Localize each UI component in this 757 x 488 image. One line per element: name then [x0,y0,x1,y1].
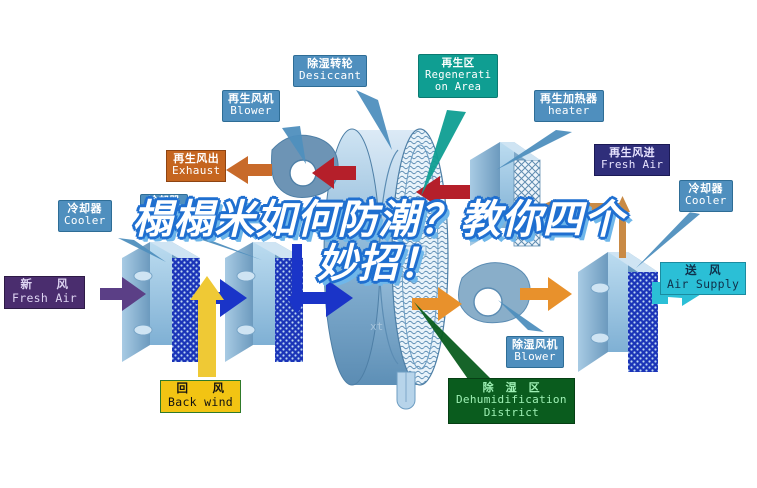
callout-regeneration-heater-en: heater [540,105,598,117]
callout-back-wind-cn: 回 风 [168,383,233,396]
callout-cooler-left-b-cn: 冷却器 [145,196,183,207]
callout-regeneration-area: 再生区 Regenerati on Area [418,54,498,98]
diagram-canvas: xt [0,0,757,488]
callout-fresh-air-in-cn: 新 风 [12,279,77,292]
callout-regeneration-area-en-1: Regenerati [425,70,491,82]
callout-air-supply-en: Air Supply [667,278,739,291]
callout-exhaust-en: Exhaust [172,165,220,177]
callout-air-supply-cn: 送 风 [667,265,739,278]
callout-regeneration-area-cn: 再生区 [425,58,491,70]
svg-text:xt: xt [370,320,383,333]
callout-regeneration-blower-en: Blower [228,105,274,117]
callout-dehumidification-blower: 除湿风机 Blower [506,336,564,368]
callout-dehumidification-district: 除 湿 区 Dehumidification District [448,378,575,424]
callout-regeneration-blower: 再生风机 Blower [222,90,280,122]
callout-cooler-right-en: Cooler [685,195,727,207]
callout-back-wind: 回 风 Back wind [160,380,241,413]
drain-pan [397,372,415,409]
callout-dehumidification-blower-en: Blower [512,351,558,363]
arrow-exhaust-out [226,156,272,184]
regen-heater-coil [470,142,540,246]
callout-cooler-right: 冷却器 Cooler [679,180,733,212]
schematic-artwork: xt [0,0,757,488]
callout-regeneration-area-en-2: on Area [425,82,491,94]
arrow-heater-feed [538,199,622,214]
callout-dehumidification-district-en-2: District [456,407,567,419]
process-blower [459,263,531,323]
callout-cooler-left-b-en: Cooler [145,207,183,218]
callout-desiccant-wheel: 除湿转轮 Desiccant [293,55,367,87]
callout-desiccant-wheel-en: Desiccant [299,70,361,82]
cooler-coil-3 [578,252,658,372]
callout-exhaust: 再生风出 Exhaust [166,150,226,182]
callout-regeneration-heater: 再生加热器 heater [534,90,604,122]
callout-regeneration-fresh-air-in: 再生风进 Fresh Air [594,144,670,176]
callout-dehumidification-district-en-1: Dehumidification [456,394,567,406]
callout-fresh-air-in-en: Fresh Air [12,292,77,305]
callout-regeneration-fresh-air-in-en: Fresh Air [601,159,663,171]
callout-back-wind-en: Back wind [168,396,233,409]
callout-fresh-air-in: 新 风 Fresh Air [4,276,85,309]
callout-air-supply: 送 风 Air Supply [660,262,746,295]
callout-cooler-left-a: 冷却器 Cooler [58,200,112,232]
callout-cooler-left-a-en: Cooler [64,215,106,227]
callout-cooler-left-b: 冷却器 Cooler [140,194,188,220]
